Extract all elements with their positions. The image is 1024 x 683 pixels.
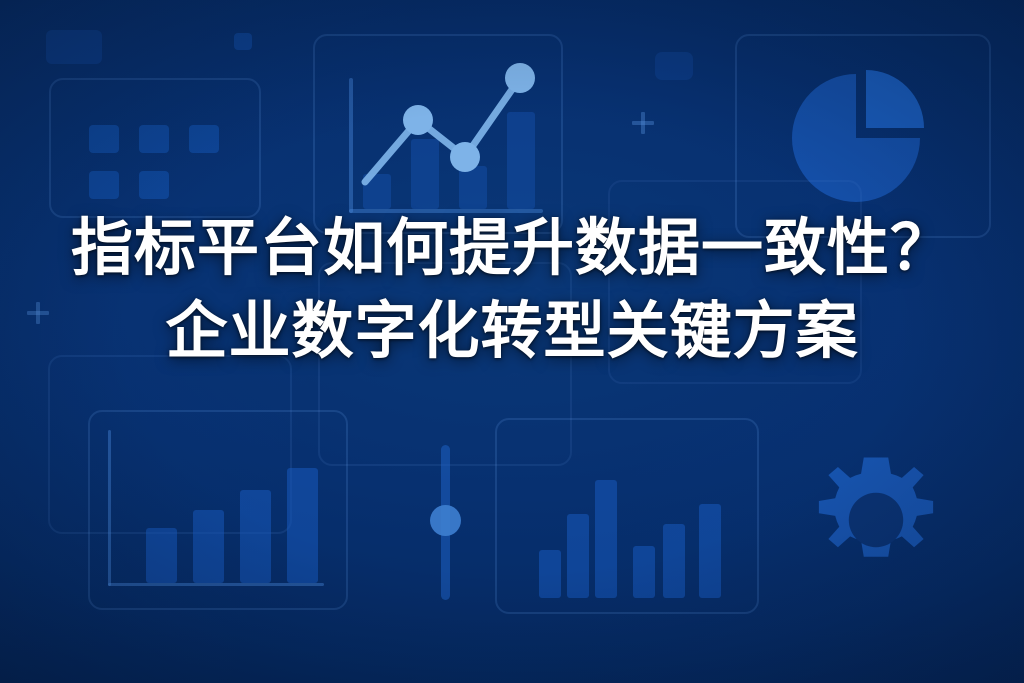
headline-line-1: 指标平台如何提升数据一致性？: [0, 212, 1024, 285]
headline-line-2: 企业数字化转型关键方案: [0, 295, 1024, 368]
headline-block: 指标平台如何提升数据一致性？ 企业数字化转型关键方案: [0, 212, 1024, 368]
poster-canvas: 指标平台如何提升数据一致性？ 企业数字化转型关键方案: [0, 0, 1024, 683]
